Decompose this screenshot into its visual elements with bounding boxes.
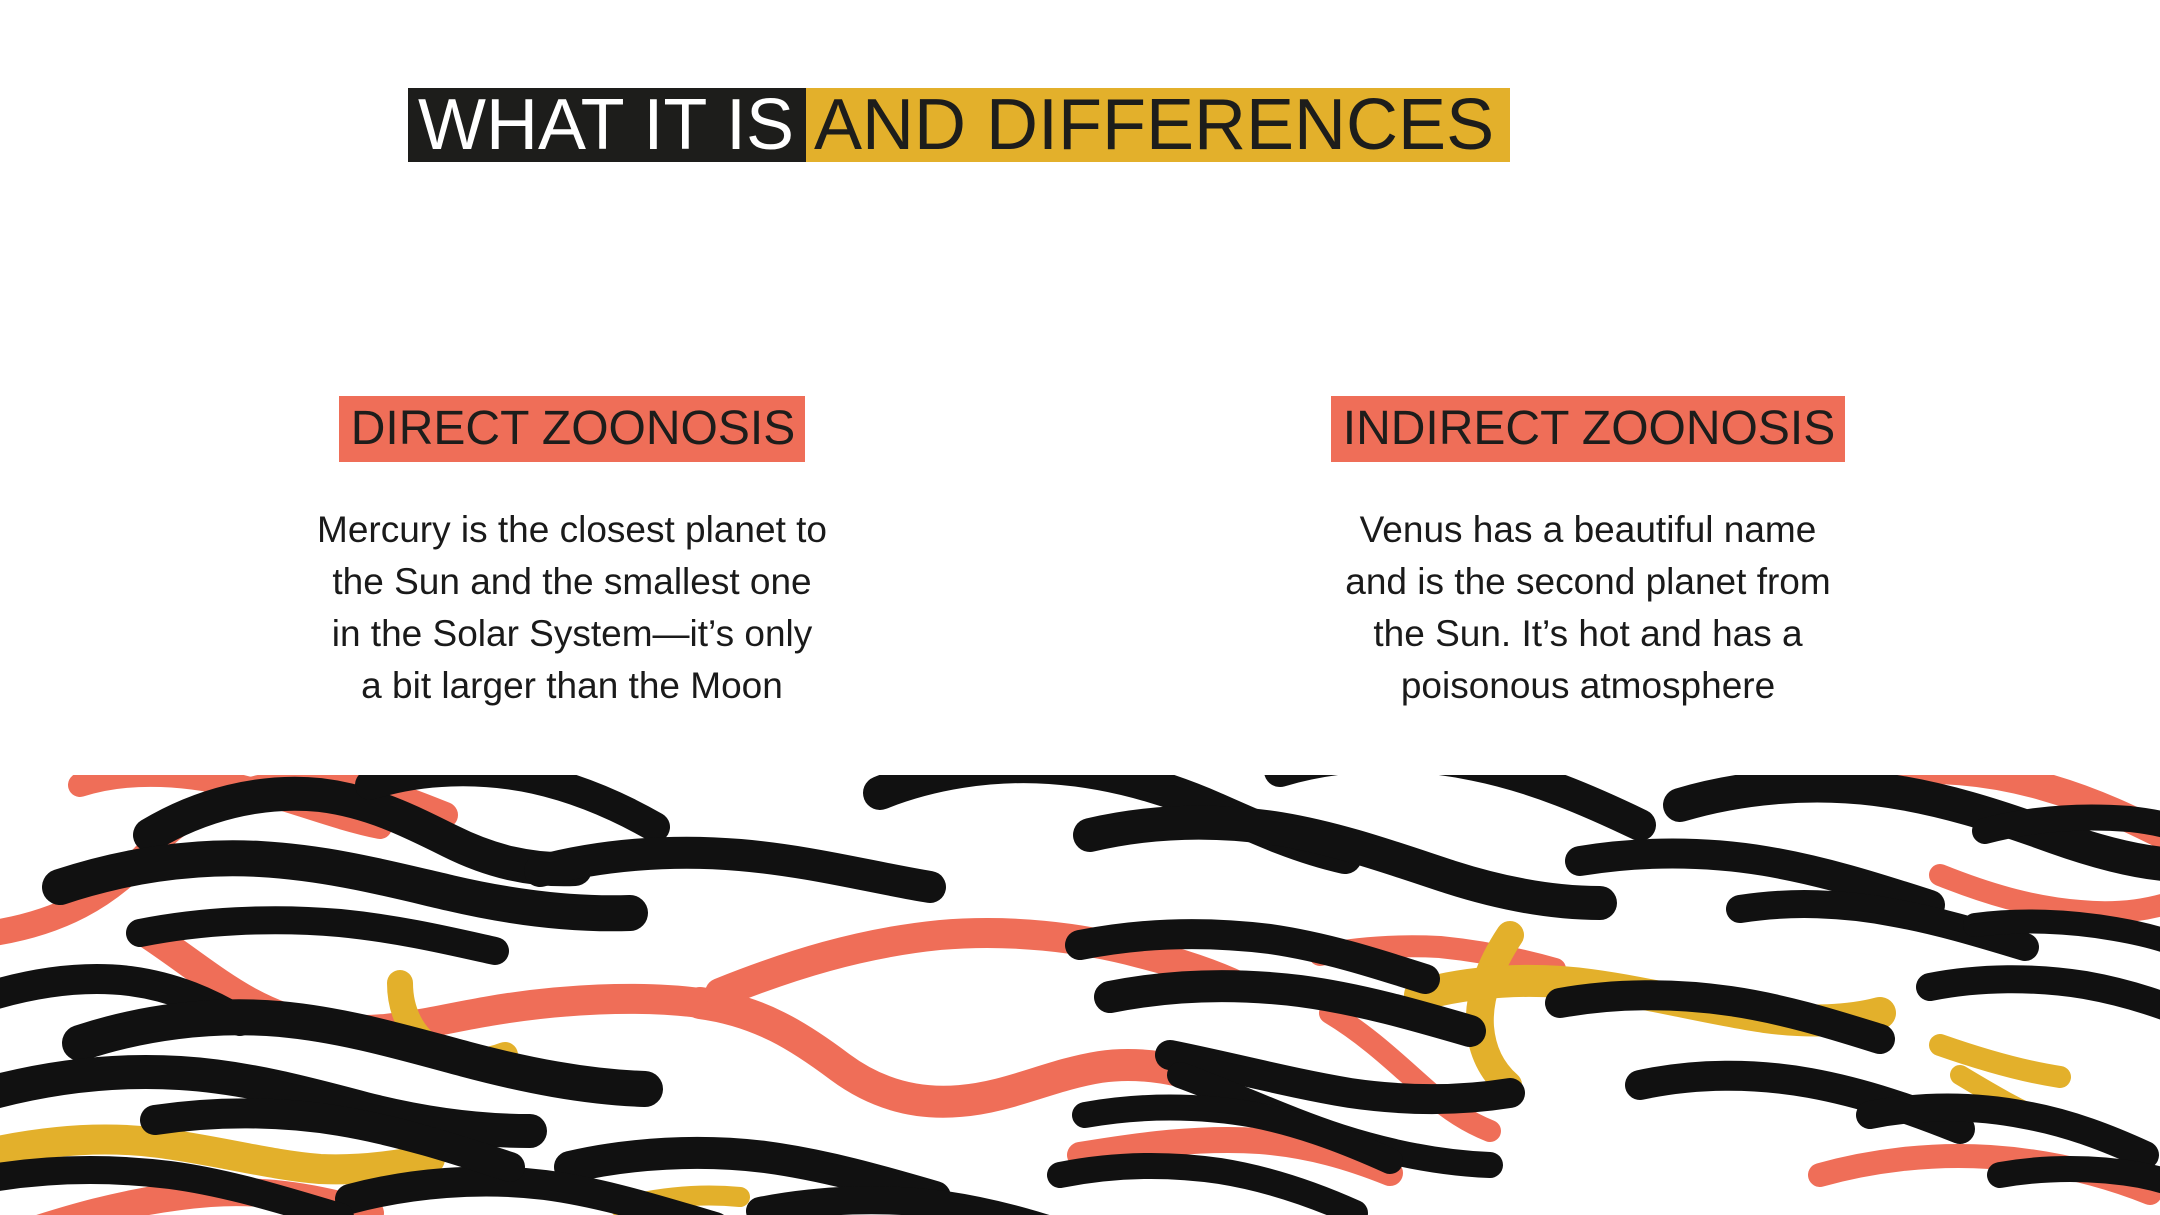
slide-title: WHAT IT IS AND DIFFERENCES	[408, 88, 1510, 162]
column-indirect-zoonosis: INDIRECT ZOONOSIS Venus has a beautiful …	[1290, 396, 1886, 712]
body-line: poisonous atmosphere	[1345, 660, 1830, 712]
title-segment-and-differences: AND DIFFERENCES	[806, 88, 1510, 162]
body-line: in the Solar System—it’s only	[317, 608, 827, 660]
content-columns: DIRECT ZOONOSIS Mercury is the closest p…	[0, 396, 2160, 712]
title-segment-what-it-is: WHAT IT IS	[408, 88, 806, 162]
column-direct-zoonosis: DIRECT ZOONOSIS Mercury is the closest p…	[274, 396, 870, 712]
column-heading-indirect-zoonosis: INDIRECT ZOONOSIS	[1331, 396, 1846, 462]
column-body-indirect-zoonosis: Venus has a beautiful name and is the se…	[1345, 504, 1830, 712]
body-line: Venus has a beautiful name	[1345, 504, 1830, 556]
body-line: the Sun and the smallest one	[317, 556, 827, 608]
body-line: and is the second planet from	[1345, 556, 1830, 608]
body-line: the Sun. It’s hot and has a	[1345, 608, 1830, 660]
body-line: Mercury is the closest planet to	[317, 504, 827, 556]
decorative-wave-pattern-illustration	[0, 775, 2160, 1215]
column-heading-direct-zoonosis: DIRECT ZOONOSIS	[339, 396, 806, 462]
slide-canvas: WHAT IT IS AND DIFFERENCES DIRECT ZOONOS…	[0, 0, 2160, 1215]
body-line: a bit larger than the Moon	[317, 660, 827, 712]
column-body-direct-zoonosis: Mercury is the closest planet to the Sun…	[317, 504, 827, 712]
